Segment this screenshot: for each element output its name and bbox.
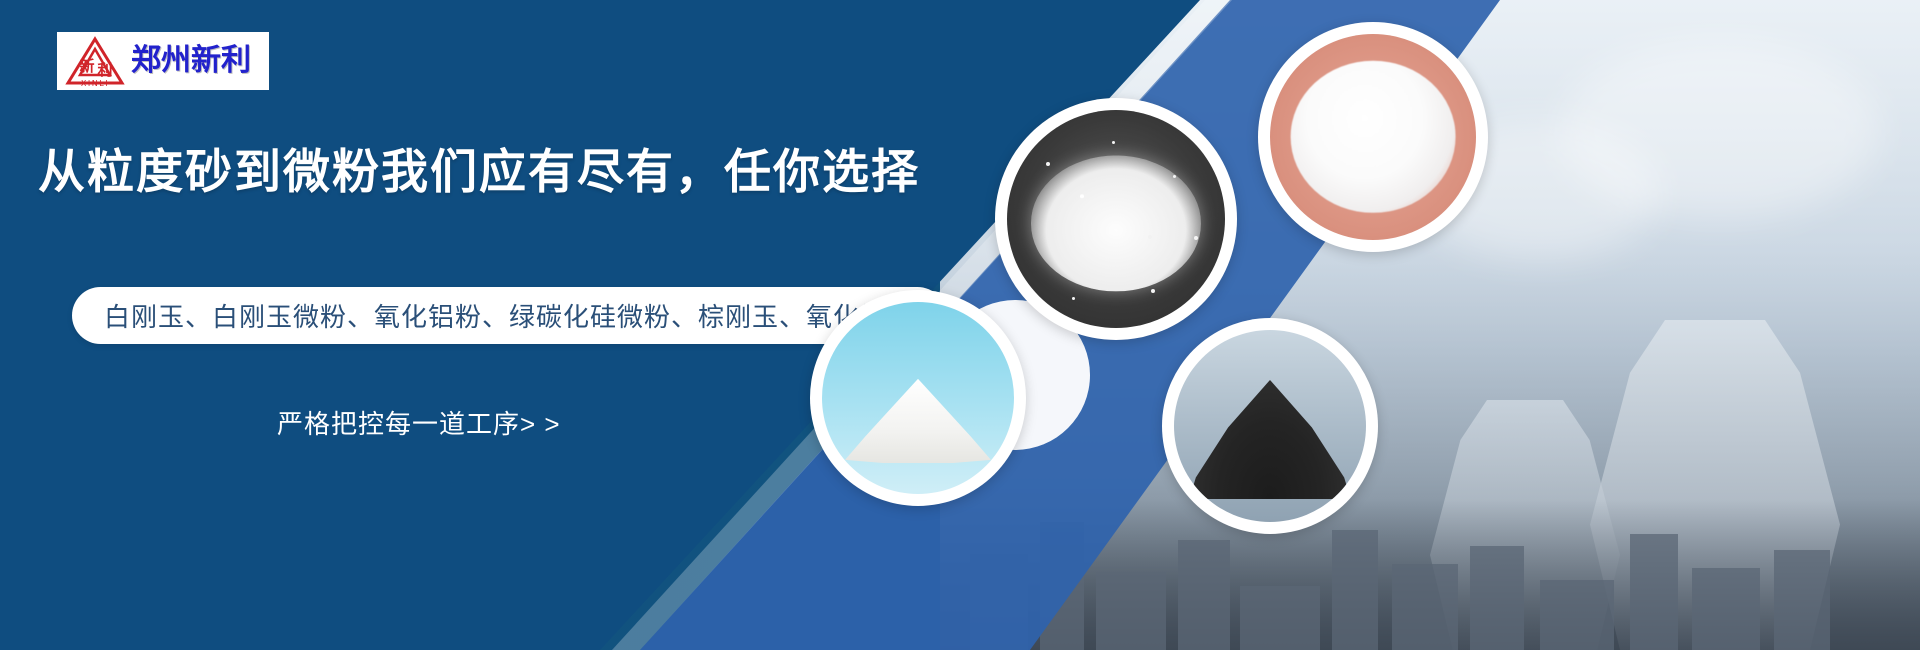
grain-speck <box>1046 162 1050 166</box>
building <box>1240 586 1320 650</box>
product-image-white-micro-powder[interactable] <box>1258 22 1488 252</box>
building <box>1332 530 1378 650</box>
product-image-green-silicon-carbide-grain[interactable] <box>1162 318 1378 534</box>
building <box>1178 540 1230 650</box>
black-grain-pile <box>1189 380 1350 499</box>
product-list-pill[interactable]: 白刚玉、白刚玉微粉、氧化铝粉、绿碳化硅微粉、棕刚玉、氧化锆等 <box>72 287 946 344</box>
grain-speck <box>1112 141 1115 144</box>
building <box>1774 550 1830 650</box>
promo-banner: 新 利 XINLI 郑州新利 从粒度砂到微粉我们应有尽有，任你选择 白刚玉、白刚… <box>0 0 1920 650</box>
building <box>1540 580 1614 650</box>
product-photo <box>1270 34 1476 240</box>
headline-text: 从粒度砂到微粉我们应有尽有，任你选择 <box>38 146 920 198</box>
building <box>1470 546 1524 650</box>
product-photo <box>1174 330 1366 522</box>
building <box>1630 534 1678 650</box>
building <box>1096 572 1166 650</box>
grain-speck <box>1151 289 1155 293</box>
company-name-text: 郑州新利 <box>131 46 251 76</box>
building <box>1392 564 1458 650</box>
powder-blob <box>1291 61 1456 213</box>
svg-text:利: 利 <box>97 61 112 79</box>
product-photo <box>1007 110 1225 328</box>
xinli-triangle-icon: 新 利 XINLI <box>65 35 125 87</box>
grain-speck <box>1072 297 1075 300</box>
product-image-white-fused-alumina-grain[interactable] <box>995 98 1237 340</box>
product-photo <box>822 302 1014 494</box>
svg-text:新: 新 <box>79 57 94 75</box>
product-list-text: 白刚玉、白刚玉微粉、氧化铝粉、绿碳化硅微粉、棕刚玉、氧化锆等 <box>104 297 914 334</box>
product-image-alumina-powder-cone[interactable] <box>810 290 1026 506</box>
company-logo[interactable]: 新 利 XINLI 郑州新利 <box>57 32 269 90</box>
powder-cone <box>845 379 991 463</box>
svg-text:XINLI: XINLI <box>81 79 109 87</box>
building <box>1692 568 1760 650</box>
process-tagline-link[interactable]: 严格把控每一道工序> > <box>277 404 561 441</box>
